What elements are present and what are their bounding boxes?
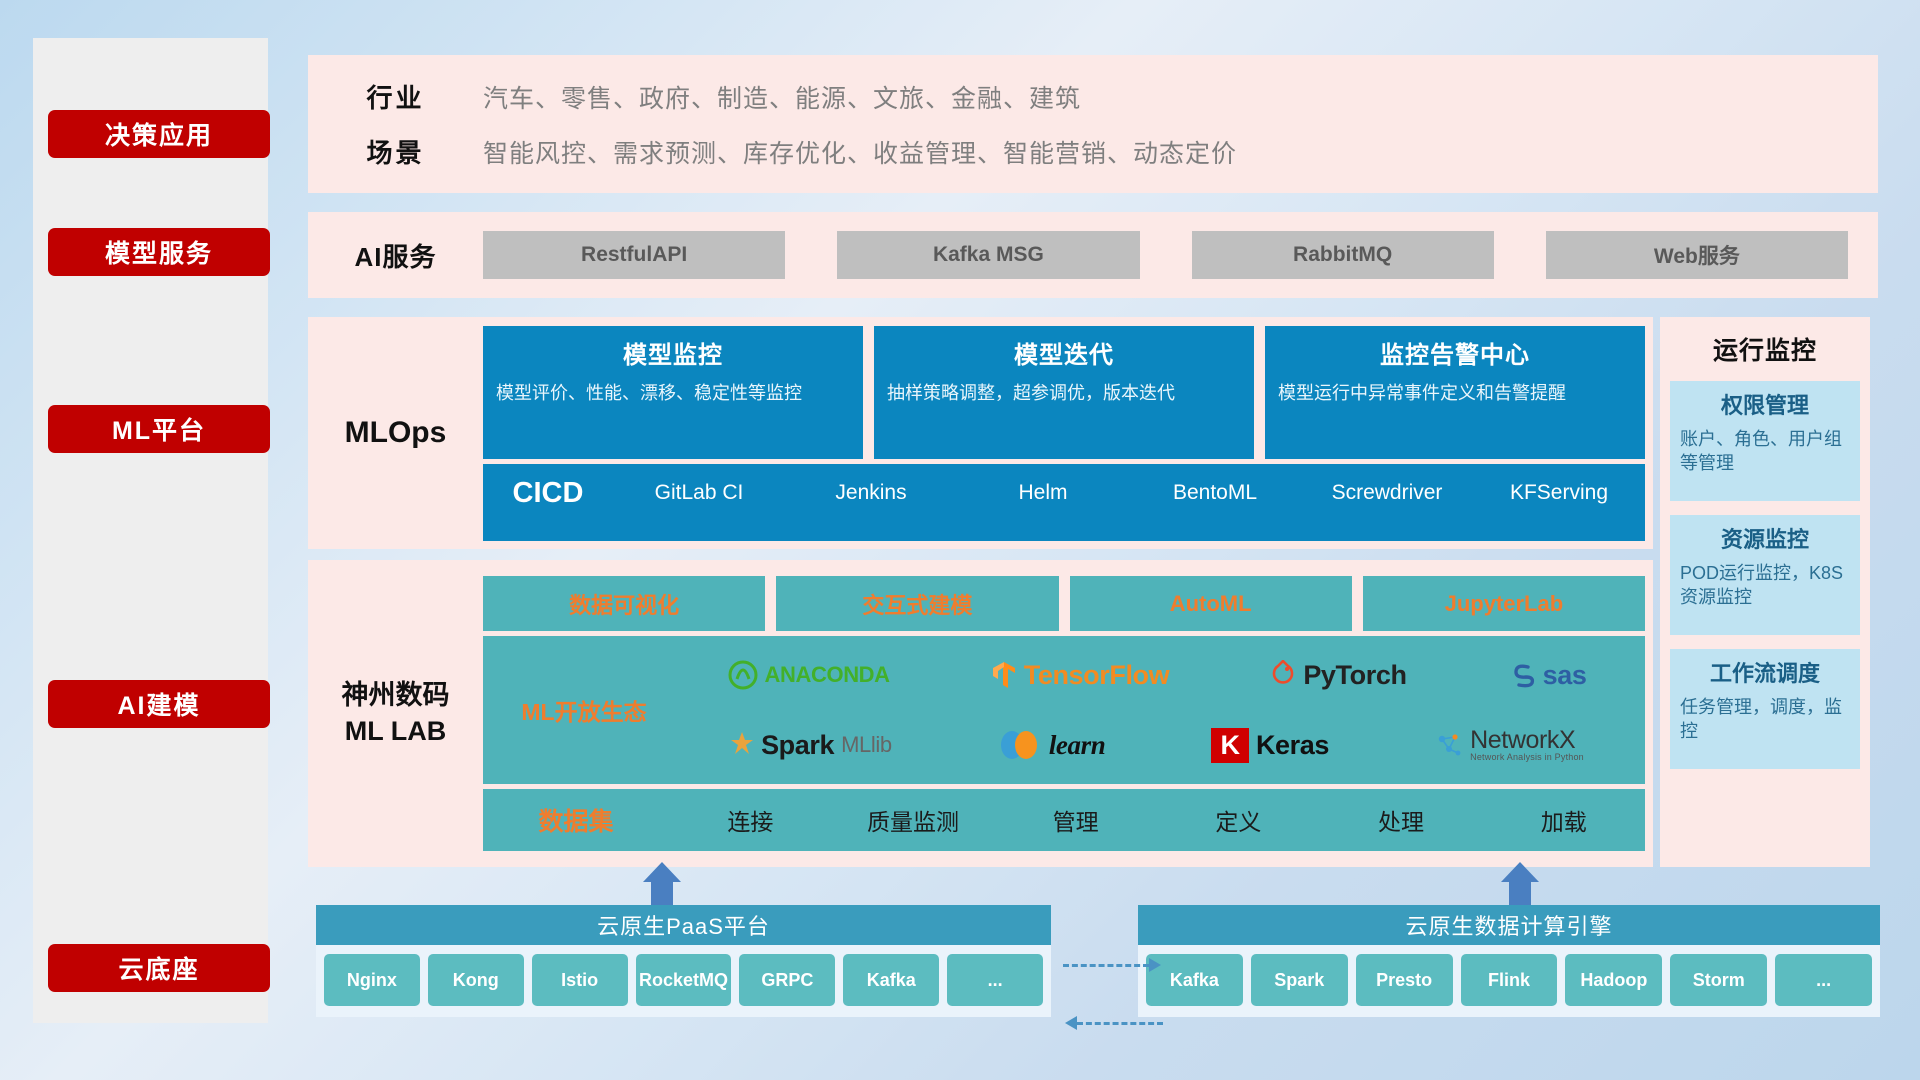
dataset-item-quality-monitoring[interactable]: 质量监测 — [832, 803, 995, 837]
cloud-chip-kong[interactable]: Kong — [428, 954, 524, 1006]
ml-open-ecosystem: ML开放生态 ANACONDA — [483, 636, 1645, 784]
tool-interactive-modeling[interactable]: 交互式建模 — [776, 576, 1058, 631]
cloud-data-engine-group: 云原生数据计算引擎 Kafka Spark Presto Flink Hadoo… — [1138, 905, 1880, 1017]
ai-service-chip[interactable]: RabbitMQ — [1192, 231, 1494, 279]
industry-scenario-band: 行业 汽车、零售、政府、制造、能源、文旅、金融、建筑 场景 智能风控、需求预测、… — [308, 55, 1878, 193]
sas-label: sas — [1543, 660, 1587, 691]
cicd-label: CICD — [483, 477, 613, 510]
cloud-chip-grpc[interactable]: GRPC — [739, 954, 835, 1006]
ml-lab-content: 数据可视化 交互式建模 AutoML JupyterLab ML开放生态 ANA… — [483, 576, 1653, 851]
scikit-learn-label: learn — [1049, 730, 1106, 761]
cloud-paas-group: 云原生PaaS平台 Nginx Kong Istio RocketMQ GRPC… — [316, 905, 1051, 1017]
cloud-chip-presto[interactable]: Presto — [1356, 954, 1453, 1006]
tool-jupyterlab[interactable]: JupyterLab — [1363, 576, 1645, 631]
mlops-band: MLOps 模型监控 模型评价、性能、漂移、稳定性等监控 模型迭代 抽样策略调整… — [308, 317, 1653, 549]
cloud-chip-flink[interactable]: Flink — [1461, 954, 1558, 1006]
monitor-card-title: 工作流调度 — [1680, 656, 1850, 688]
cloud-chip-more[interactable]: ... — [947, 954, 1043, 1006]
rail-label: 决策应用 — [105, 116, 213, 152]
cloud-chip-hadoop[interactable]: Hadoop — [1565, 954, 1662, 1006]
cloud-paas-column: 云原生PaaS平台 Nginx Kong Istio RocketMQ GRPC… — [316, 905, 1051, 1017]
mlops-content: 模型监控 模型评价、性能、漂移、稳定性等监控 模型迭代 抽样策略调整，超参调优，… — [483, 326, 1653, 541]
anaconda-icon — [728, 660, 758, 690]
ecosystem-logo-grid: ANACONDA TensorFlow — [677, 642, 1637, 778]
rail-item-model-service[interactable]: 模型服务 — [48, 228, 270, 276]
pytorch-icon — [1270, 660, 1296, 690]
cloud-data-engine-column: 云原生数据计算引擎 Kafka Spark Presto Flink Hadoo… — [1138, 905, 1880, 1017]
dataset-item-define[interactable]: 定义 — [1157, 803, 1320, 837]
mlops-card-title: 模型迭代 — [887, 335, 1241, 370]
rail-label: 模型服务 — [105, 234, 213, 270]
spark-icon — [730, 732, 754, 758]
dataset-item-load[interactable]: 加载 — [1482, 803, 1645, 837]
networkx-label: NetworkX — [1470, 728, 1584, 753]
anaconda-logo: ANACONDA — [728, 660, 890, 690]
rail-label: AI建模 — [117, 686, 200, 722]
pytorch-label: PyTorch — [1303, 660, 1406, 691]
monitor-card-title: 资源监控 — [1680, 522, 1850, 554]
scikit-learn-icon — [998, 730, 1042, 760]
tool-automl[interactable]: AutoML — [1070, 576, 1352, 631]
cicd-item-bentoml[interactable]: BentoML — [1129, 477, 1301, 506]
cloud-chip-more-2[interactable]: ... — [1775, 954, 1872, 1006]
ml-open-ecosystem-label: ML开放生态 — [491, 693, 677, 727]
mlops-card-model-iteration[interactable]: 模型迭代 抽样策略调整，超参调优，版本迭代 — [874, 326, 1254, 459]
ml-lab-band: 神州数码 ML LAB 数据可视化 交互式建模 AutoML JupyterLa… — [308, 560, 1653, 867]
keras-logo: K Keras — [1211, 728, 1329, 763]
tool-data-visualization[interactable]: 数据可视化 — [483, 576, 765, 631]
mlops-card-desc: 模型运行中异常事件定义和告警提醒 — [1278, 381, 1632, 406]
keras-badge: K — [1211, 728, 1249, 763]
bidirectional-link-arrows — [1063, 950, 1168, 1040]
cicd-bar: CICD GitLab CI Jenkins Helm BentoML Scre… — [483, 464, 1645, 541]
dataset-item-manage[interactable]: 管理 — [994, 803, 1157, 837]
cicd-item-gitlab-ci[interactable]: GitLab CI — [613, 477, 785, 506]
monitor-card-permission[interactable]: 权限管理 账户、角色、用户组等管理 — [1670, 381, 1860, 501]
anaconda-label: ANACONDA — [765, 662, 890, 688]
cloud-chip-storm[interactable]: Storm — [1670, 954, 1767, 1006]
cicd-item-helm[interactable]: Helm — [957, 477, 1129, 506]
rail-item-cloud-base[interactable]: 云底座 — [48, 944, 270, 992]
scenario-row: 场景 智能风控、需求预测、库存优化、收益管理、智能营销、动态定价 — [308, 124, 1878, 179]
ecosystem-logo-row-1: ANACONDA TensorFlow — [677, 642, 1637, 708]
mlops-card-desc: 抽样策略调整，超参调优，版本迭代 — [887, 381, 1241, 406]
cloud-chip-rocketmq[interactable]: RocketMQ — [636, 954, 732, 1006]
cloud-chip-kafka[interactable]: Kafka — [843, 954, 939, 1006]
scenario-label: 场景 — [308, 133, 483, 170]
ai-service-chip-list: RestfulAPI Kafka MSG RabbitMQ Web服务 — [483, 231, 1878, 279]
mlops-card-model-monitoring[interactable]: 模型监控 模型评价、性能、漂移、稳定性等监控 — [483, 326, 863, 459]
dataset-label: 数据集 — [483, 802, 669, 838]
cloud-data-engine-title: 云原生数据计算引擎 — [1138, 905, 1880, 945]
ai-service-chip[interactable]: Web服务 — [1546, 231, 1848, 279]
runtime-monitor-panel: 运行监控 权限管理 账户、角色、用户组等管理 资源监控 POD运行监控，K8S资… — [1660, 317, 1870, 867]
ecosystem-logo-row-2: Spark MLlib learn K Keras — [677, 712, 1637, 778]
left-rail — [33, 38, 268, 1023]
cloud-chip-spark[interactable]: Spark — [1251, 954, 1348, 1006]
mlops-card-title: 模型监控 — [496, 335, 850, 370]
networkx-icon — [1435, 731, 1463, 759]
cloud-chip-nginx[interactable]: Nginx — [324, 954, 420, 1006]
industry-label: 行业 — [308, 78, 483, 115]
pytorch-logo: PyTorch — [1270, 660, 1406, 691]
tensorflow-label: TensorFlow — [1024, 660, 1170, 691]
mlops-label: MLOps — [308, 416, 483, 450]
ai-service-label: AI服务 — [308, 237, 483, 274]
scikit-learn-logo: learn — [998, 730, 1106, 761]
ai-service-chip[interactable]: RestfulAPI — [483, 231, 785, 279]
mlops-card-title: 监控告警中心 — [1278, 335, 1632, 370]
mllib-label: MLlib — [841, 732, 892, 758]
monitor-card-workflow[interactable]: 工作流调度 任务管理，调度，监控 — [1670, 649, 1860, 769]
runtime-monitor-title: 运行监控 — [1670, 331, 1860, 367]
monitor-card-resource[interactable]: 资源监控 POD运行监控，K8S资源监控 — [1670, 515, 1860, 635]
ml-lab-label-line1: 神州数码 — [308, 678, 483, 714]
dataset-bar: 数据集 连接 质量监测 管理 定义 处理 加载 — [483, 789, 1645, 851]
mlops-card-list: 模型监控 模型评价、性能、漂移、稳定性等监控 模型迭代 抽样策略调整，超参调优，… — [483, 326, 1645, 459]
rail-item-ml-platform[interactable]: ML平台 — [48, 405, 270, 453]
monitor-card-desc: 任务管理，调度，监控 — [1680, 695, 1850, 744]
rail-item-ai-modeling[interactable]: AI建模 — [48, 680, 270, 728]
cicd-item-screwdriver[interactable]: Screwdriver — [1301, 477, 1473, 506]
monitor-card-desc: POD运行监控，K8S资源监控 — [1680, 561, 1850, 610]
cloud-paas-title: 云原生PaaS平台 — [316, 905, 1051, 945]
industry-values: 汽车、零售、政府、制造、能源、文旅、金融、建筑 — [483, 79, 1081, 115]
cloud-data-engine-chip-list: Kafka Spark Presto Flink Hadoop Storm ..… — [1138, 945, 1880, 1010]
spark-mllib-logo: Spark MLlib — [730, 730, 892, 761]
ml-lab-label-line2: ML LAB — [308, 714, 483, 750]
sas-logo: sas — [1508, 660, 1587, 691]
dataset-item-process[interactable]: 处理 — [1320, 803, 1483, 837]
mlops-card-desc: 模型评价、性能、漂移、稳定性等监控 — [496, 381, 850, 406]
cloud-chip-istio[interactable]: Istio — [532, 954, 628, 1006]
monitor-card-title: 权限管理 — [1680, 388, 1850, 420]
mlops-card-alert-center[interactable]: 监控告警中心 模型运行中异常事件定义和告警提醒 — [1265, 326, 1645, 459]
scenario-values: 智能风控、需求预测、库存优化、收益管理、智能营销、动态定价 — [483, 134, 1237, 170]
rail-item-decision-app[interactable]: 决策应用 — [48, 110, 270, 158]
ml-lab-tool-list: 数据可视化 交互式建模 AutoML JupyterLab — [483, 576, 1645, 631]
industry-row: 行业 汽车、零售、政府、制造、能源、文旅、金融、建筑 — [308, 69, 1878, 124]
spark-label: Spark — [761, 730, 834, 761]
cicd-item-jenkins[interactable]: Jenkins — [785, 477, 957, 506]
ai-service-chip[interactable]: Kafka MSG — [837, 231, 1139, 279]
rail-label: ML平台 — [112, 411, 206, 447]
cicd-item-kfserving[interactable]: KFServing — [1473, 477, 1645, 506]
ml-lab-label: 神州数码 ML LAB — [308, 678, 483, 749]
ai-service-band: AI服务 RestfulAPI Kafka MSG RabbitMQ Web服务 — [308, 212, 1878, 298]
cloud-paas-chip-list: Nginx Kong Istio RocketMQ GRPC Kafka ... — [316, 945, 1051, 1010]
networkx-tagline: Network Analysis in Python — [1470, 753, 1584, 762]
rail-label: 云底座 — [118, 950, 199, 986]
tensorflow-logo: TensorFlow — [991, 660, 1170, 691]
networkx-logo: NetworkX Network Analysis in Python — [1435, 728, 1584, 762]
keras-label: Keras — [1256, 730, 1329, 761]
tensorflow-icon — [991, 660, 1017, 690]
dataset-item-connect[interactable]: 连接 — [669, 803, 832, 837]
sas-icon — [1508, 661, 1536, 689]
monitor-card-desc: 账户、角色、用户组等管理 — [1680, 427, 1850, 476]
